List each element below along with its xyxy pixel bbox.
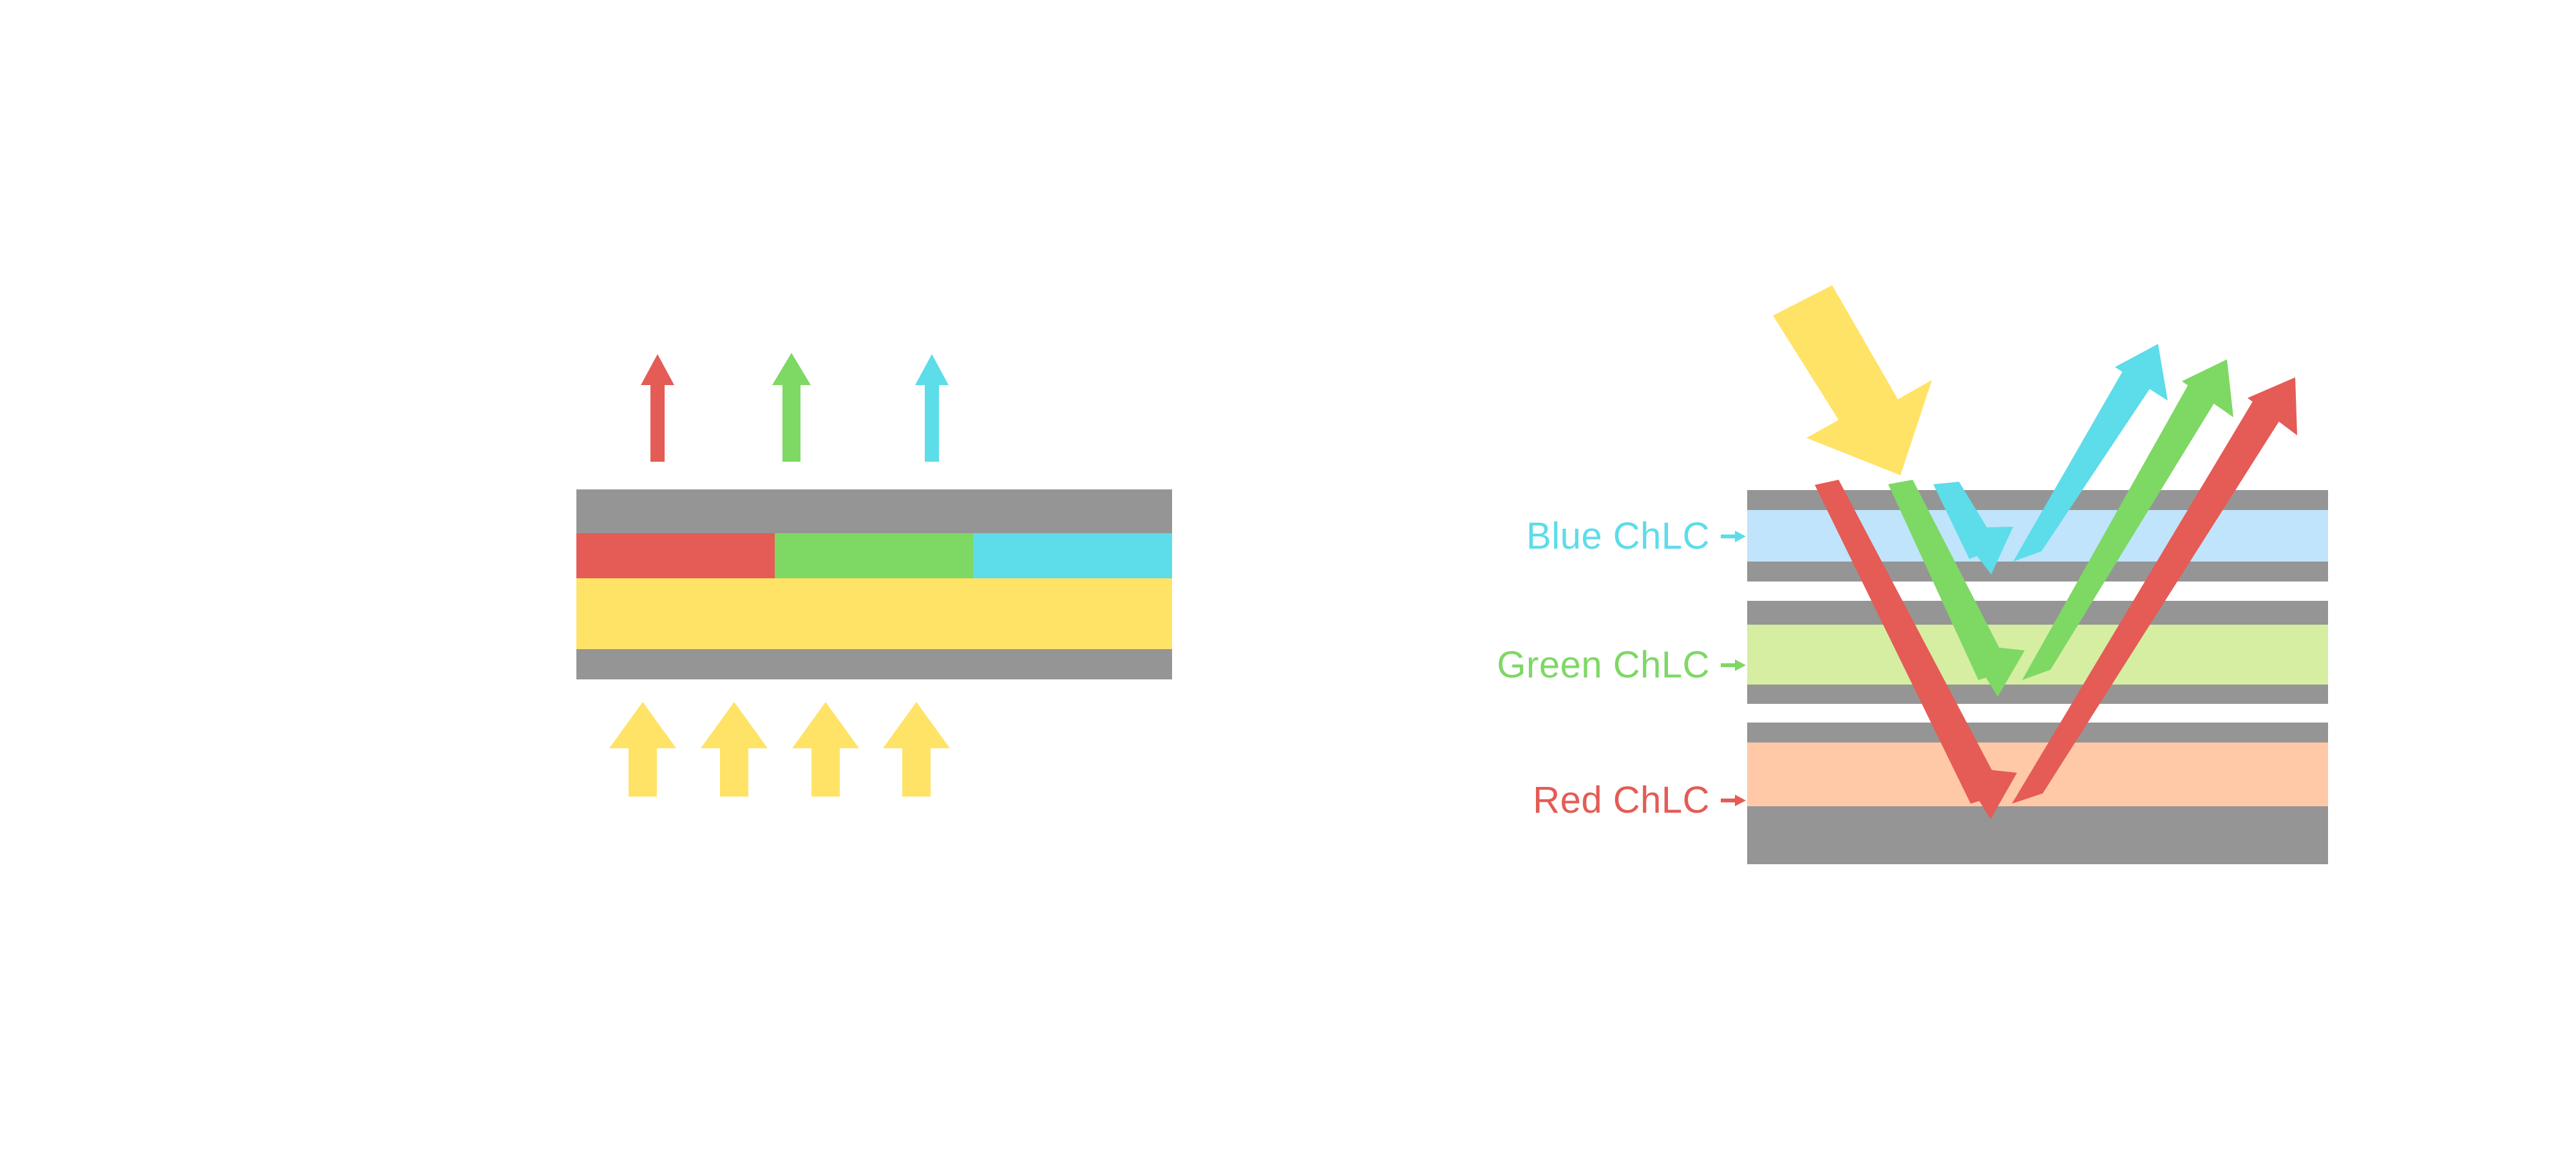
backlight-arrow-2 <box>701 702 768 797</box>
yellow-backlight-layer <box>576 578 1172 649</box>
red-label-pointer-icon <box>1721 795 1746 806</box>
red-emission-arrow <box>641 354 674 462</box>
emitted-arrows-group <box>641 353 949 462</box>
green-chlc-label: Green ChLC <box>1497 644 1710 686</box>
green-filter-segment <box>775 533 973 578</box>
red-filter-segment <box>576 533 775 578</box>
green-label-pointer-icon <box>1721 659 1746 671</box>
top-substrate-layer <box>576 489 1172 533</box>
blue-label-pointer-icon <box>1721 531 1746 542</box>
left-panel <box>576 353 1172 797</box>
diagram-canvas: Blue ChLC Green ChLC Red ChLC <box>0 0 2576 1154</box>
blue-chlc-label-group: Blue ChLC <box>1526 515 1746 557</box>
substrate-layer-5 <box>1747 723 2328 743</box>
substrate-layer-4 <box>1747 685 2328 704</box>
backlight-arrow-3 <box>792 702 859 797</box>
green-emission-arrow <box>772 353 811 462</box>
red-chlc-label: Red ChLC <box>1533 779 1710 821</box>
backlight-arrow-4 <box>883 702 950 797</box>
backlight-arrows-group <box>609 702 950 797</box>
blue-filter-segment <box>973 533 1172 578</box>
blue-chlc-label: Blue ChLC <box>1526 515 1710 557</box>
substrate-layer-3 <box>1747 601 2328 625</box>
blue-emission-arrow <box>915 354 949 462</box>
right-panel: Blue ChLC Green ChLC Red ChLC <box>1497 285 2328 864</box>
green-chlc-label-group: Green ChLC <box>1497 644 1746 686</box>
bottom-substrate-layer <box>576 649 1172 679</box>
substrate-layer-6 <box>1747 806 2328 864</box>
white-light-incident-arrow <box>1773 285 1932 475</box>
chlc-display-diagram: Blue ChLC Green ChLC Red ChLC <box>0 0 2576 1154</box>
substrate-layer-2 <box>1747 562 2328 582</box>
red-chlc-label-group: Red ChLC <box>1533 779 1746 821</box>
backlight-arrow-1 <box>609 702 676 797</box>
emissive-stack <box>576 489 1172 679</box>
